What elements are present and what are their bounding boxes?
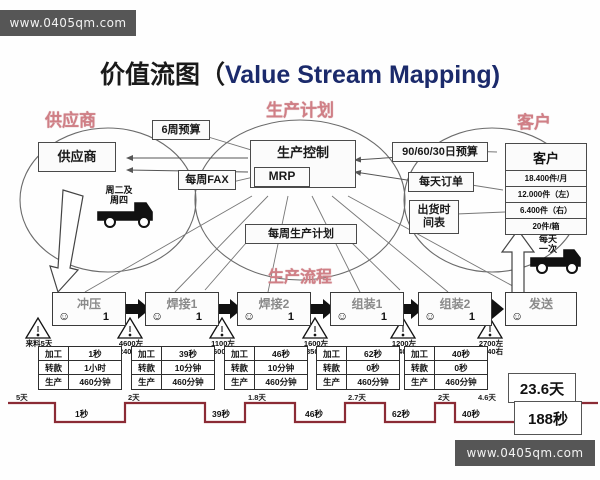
truck-right-label: 每天 一次	[528, 235, 568, 255]
data-val-changeover: 1小时	[69, 361, 121, 375]
customer-row-right: 6.400件（右）	[506, 202, 586, 218]
operator-icon: ☺	[424, 309, 436, 323]
data-val-uptime: 460分钟	[435, 375, 487, 389]
data-key-process: 加工	[317, 347, 347, 361]
daily-order-box[interactable]: 每天订单	[408, 172, 474, 192]
shipping-schedule-line1: 出货时	[418, 204, 451, 217]
process-time-label-4: 40秒	[462, 408, 480, 420]
truck-left-label: 周二及 周四	[96, 186, 142, 206]
data-val-process: 39秒	[162, 347, 214, 361]
operator-icon: ☺	[336, 309, 348, 323]
process-time-label-1: 39秒	[212, 408, 230, 420]
lead-time-label-5: 4.6天	[478, 392, 496, 403]
data-key-process: 加工	[225, 347, 255, 361]
section-label-supplier: 供应商	[45, 106, 96, 131]
forecast-906030-box[interactable]: 90/60/30日预算	[392, 142, 488, 162]
truck-right-line2: 一次	[528, 245, 568, 255]
data-key-changeover: 转款	[405, 361, 435, 375]
data-val-process: 46秒	[255, 347, 307, 361]
data-box-stamping[interactable]: 加工 1秒 转款 1小时 生产 460分钟	[38, 346, 122, 390]
section-label-production-flow: 生产流程	[268, 263, 332, 287]
truck-left-line2: 周四	[96, 196, 142, 206]
data-key-process: 加工	[132, 347, 162, 361]
data-val-uptime: 460分钟	[255, 375, 307, 389]
process-count: 1	[196, 311, 202, 323]
data-box-assembly-2[interactable]: 加工 40秒 转款 0秒 生产 460分钟	[404, 346, 488, 390]
operator-icon: ☺	[58, 309, 70, 323]
customer-box-header: 客户	[506, 144, 586, 170]
lead-time-label-4: 2天	[438, 392, 450, 403]
process-count: 1	[288, 311, 294, 323]
data-key-uptime: 生产	[39, 375, 69, 389]
data-val-changeover: 10分钟	[162, 361, 214, 375]
process-box-assembly-2[interactable]: 组装2 ☺ 1	[418, 292, 492, 326]
operator-icon: ☺	[243, 309, 255, 323]
watermark-bottom: www.0405qm.com	[455, 440, 595, 466]
shipping-schedule-box[interactable]: 出货时 间表	[409, 200, 459, 234]
title-cn: 价值流图（	[100, 61, 225, 89]
process-box-welding-1[interactable]: 焊接1 ☺ 1	[145, 292, 219, 326]
data-key-changeover: 转款	[132, 361, 162, 375]
process-box-stamping[interactable]: 冲压 ☺ 1	[52, 292, 126, 326]
title-en: Value Stream Mapping)	[225, 61, 500, 89]
weekly-fax-box[interactable]: 每周FAX	[178, 170, 236, 190]
data-val-uptime: 460分钟	[69, 375, 121, 389]
section-label-customer: 客户	[517, 108, 551, 133]
customer-row-per-box: 20件/箱	[506, 218, 586, 234]
lead-time-label-1: 2天	[128, 392, 140, 403]
page-title: 价值流图（Value Stream Mapping)	[0, 55, 600, 91]
process-count: 1	[103, 311, 109, 323]
data-key-changeover: 转款	[317, 361, 347, 375]
data-key-uptime: 生产	[132, 375, 162, 389]
data-val-uptime: 460分钟	[347, 375, 399, 389]
data-val-changeover: 0秒	[347, 361, 399, 375]
mrp-box[interactable]: MRP	[254, 167, 310, 187]
watermark-top: www.0405qm.com	[0, 10, 136, 36]
lead-time-label-2: 1.8天	[248, 392, 266, 403]
vsm-diagram: www.0405qm.com www.0405qm.com 价值流图（Value…	[0, 0, 600, 480]
lead-time-label-0: 5天	[16, 392, 28, 403]
process-time-label-2: 46秒	[305, 408, 323, 420]
operator-icon: ☺	[511, 309, 523, 323]
data-key-changeover: 转款	[225, 361, 255, 375]
data-box-assembly-1[interactable]: 加工 62秒 转款 0秒 生产 460分钟	[316, 346, 400, 390]
customer-box[interactable]: 客户 18.400件/月 12.000件（左） 6.400件（右） 20件/箱	[505, 143, 587, 235]
customer-row-left: 12.000件（左）	[506, 186, 586, 202]
operator-icon: ☺	[151, 309, 163, 323]
data-key-process: 加工	[39, 347, 69, 361]
supplier-box[interactable]: 供应商	[38, 142, 116, 172]
process-count: 1	[381, 311, 387, 323]
data-key-uptime: 生产	[405, 375, 435, 389]
total-process-time-box: 188秒	[514, 401, 582, 435]
process-box-welding-2[interactable]: 焊接2 ☺ 1	[237, 292, 311, 326]
data-val-changeover: 10分钟	[255, 361, 307, 375]
data-val-uptime: 460分钟	[162, 375, 214, 389]
process-box-assembly-1[interactable]: 组装1 ☺ 1	[330, 292, 404, 326]
process-time-label-3: 62秒	[392, 408, 410, 420]
data-val-changeover: 0秒	[435, 361, 487, 375]
customer-row-monthly: 18.400件/月	[506, 170, 586, 186]
data-key-process: 加工	[405, 347, 435, 361]
section-label-production-plan: 生产计划	[266, 96, 334, 121]
process-time-label-0: 1秒	[75, 408, 88, 420]
data-val-process: 40秒	[435, 347, 487, 361]
data-box-welding-2[interactable]: 加工 46秒 转款 10分钟 生产 460分钟	[224, 346, 308, 390]
weekly-production-plan-box[interactable]: 每周生产计划	[245, 224, 357, 244]
data-key-changeover: 转款	[39, 361, 69, 375]
shipping-schedule-line2: 间表	[423, 217, 445, 230]
data-val-process: 1秒	[69, 347, 121, 361]
data-val-process: 62秒	[347, 347, 399, 361]
lead-time-label-3: 2.7天	[348, 392, 366, 403]
six-week-forecast-box[interactable]: 6周预算	[152, 120, 210, 140]
process-box-shipping[interactable]: 发送 ☺	[505, 292, 577, 326]
data-box-welding-1[interactable]: 加工 39秒 转款 10分钟 生产 460分钟	[131, 346, 215, 390]
data-key-uptime: 生产	[225, 375, 255, 389]
data-key-uptime: 生产	[317, 375, 347, 389]
total-lead-time-box: 23.6天	[508, 373, 576, 403]
process-count: 1	[469, 311, 475, 323]
